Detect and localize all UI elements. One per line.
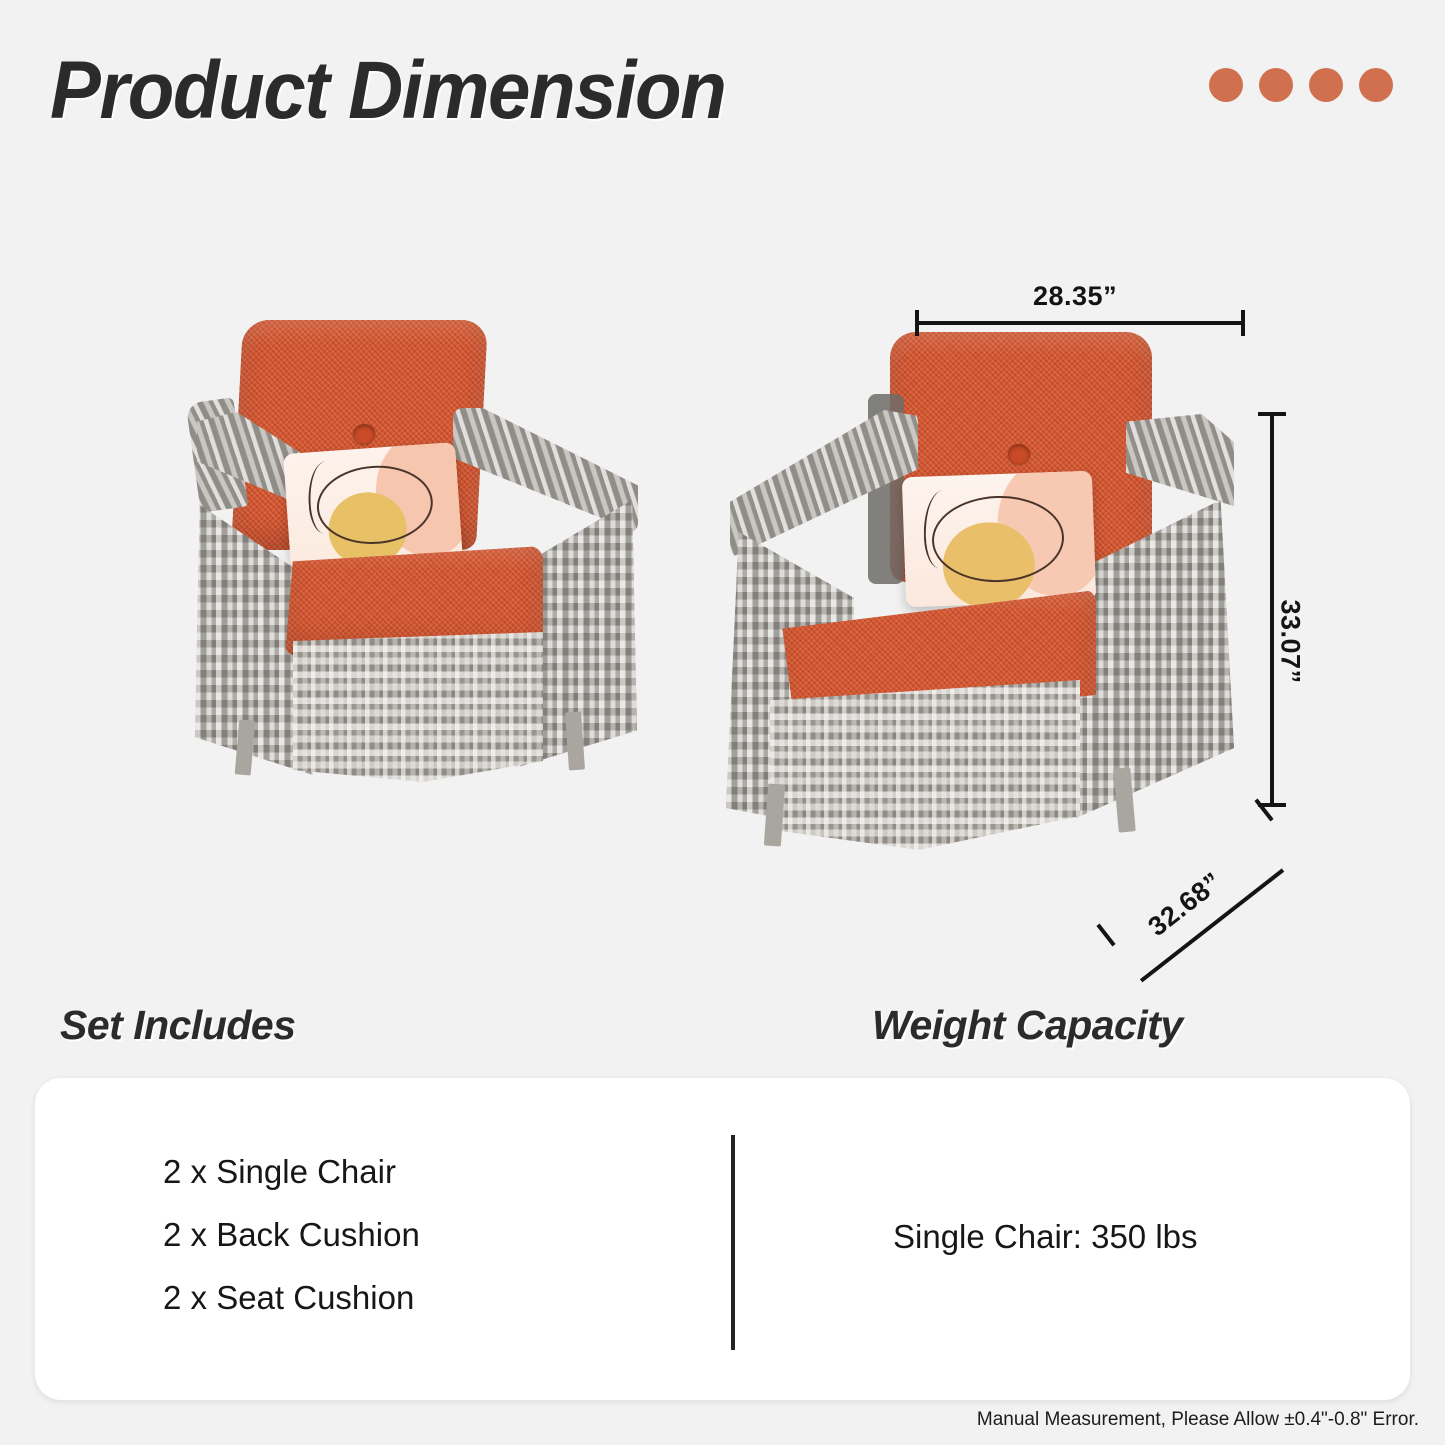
measurement-disclaimer: Manual Measurement, Please Allow ±0.4"-0… — [977, 1409, 1419, 1431]
product-image-stage: 28.35” 33.07” 32.68” — [0, 180, 1445, 980]
list-item: 2 x Single Chair — [163, 1155, 420, 1188]
card-divider — [731, 1135, 735, 1350]
dimension-width-cap-left — [915, 310, 919, 336]
dimension-width-line — [915, 321, 1245, 325]
list-item: 2 x Back Cushion — [163, 1218, 420, 1251]
weight-capacity-heading: Weight Capacity — [872, 1002, 1183, 1049]
chair-base-panel — [293, 632, 543, 782]
dimension-width-cap-right — [1241, 310, 1245, 336]
weight-capacity-value: Single Chair: 350 lbs — [893, 1218, 1198, 1256]
decorative-dot-icon — [1359, 68, 1393, 102]
decorative-pillow — [902, 471, 1096, 608]
product-dimension-infographic: Product Dimension — [0, 0, 1445, 1445]
cushion-tuft-icon — [1008, 444, 1030, 464]
decorative-pillow — [283, 442, 463, 572]
dimension-depth-cap-lower — [1096, 924, 1115, 947]
pillow-shape-curve-line — [306, 460, 345, 534]
set-includes-heading: Set Includes — [60, 1002, 296, 1049]
page-title: Product Dimension — [50, 44, 725, 138]
cushion-tuft-icon — [353, 424, 376, 444]
dimension-height-line — [1270, 412, 1274, 807]
pillow-shape-curve-line — [922, 489, 961, 568]
dimension-height-label: 33.07” — [1275, 600, 1306, 684]
chair-leg-front-left — [235, 719, 256, 775]
chair-leg-front-left — [764, 783, 785, 846]
list-item: 2 x Seat Cushion — [163, 1281, 420, 1314]
decorative-dot-icon — [1259, 68, 1293, 102]
product-chair-right — [718, 332, 1238, 872]
dimension-height-cap-top — [1258, 412, 1286, 416]
chair-base-panel — [770, 680, 1080, 850]
product-chair-left — [185, 320, 645, 820]
dimension-width-label: 28.35” — [1033, 281, 1117, 312]
decorative-dot-icon — [1209, 68, 1243, 102]
decorative-dot-icon — [1309, 68, 1343, 102]
set-includes-list: 2 x Single Chair 2 x Back Cushion 2 x Se… — [163, 1155, 420, 1344]
dimension-depth-label: 32.68” — [1142, 867, 1227, 943]
decorative-dot-group — [1209, 68, 1393, 102]
